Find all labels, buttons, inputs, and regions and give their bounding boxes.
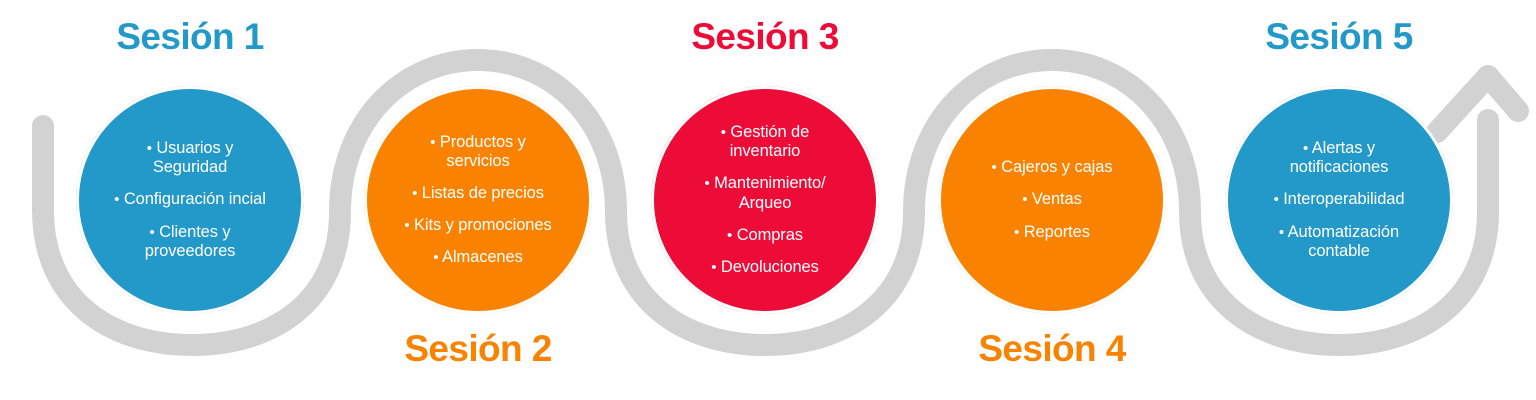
list-item: • Almacenes — [385, 248, 571, 267]
bullet-icon: • — [114, 191, 119, 208]
session-2-bullet-list: • Productos y servicios • Listas de prec… — [385, 133, 571, 268]
session-4-bullet-list: • Cajeros y cajas • Ventas • Reportes — [959, 158, 1145, 241]
session-label-2: Sesión 2 — [350, 328, 606, 370]
list-item: • Interoperabilidad — [1246, 190, 1432, 209]
list-item: • Reportes — [959, 223, 1145, 242]
bullet-icon: • — [992, 159, 997, 176]
list-item: • Kits y promociones — [385, 216, 571, 235]
list-item: • Productos y servicios — [385, 133, 571, 171]
bullet-icon: • — [721, 124, 726, 141]
list-item: • Mantenimiento/ Arqueo — [672, 174, 858, 212]
bullet-icon: • — [1303, 140, 1308, 157]
session-label-3: Sesión 3 — [637, 16, 893, 58]
list-item-label: Mantenimiento/ Arqueo — [714, 174, 825, 211]
session-roadmap-infographic: • Usuarios y Seguridad • Configuración i… — [0, 0, 1536, 400]
list-item-label: Productos y servicios — [440, 133, 526, 170]
list-item-label: Kits y promociones — [414, 216, 552, 234]
list-item-label: Devoluciones — [721, 258, 819, 276]
bullet-icon: • — [704, 175, 709, 192]
bullet-icon: • — [1279, 224, 1284, 241]
list-item-label: Gestión de inventario — [730, 123, 810, 160]
list-item: • Usuarios y Seguridad — [97, 139, 283, 177]
session-node-2[interactable]: • Productos y servicios • Listas de prec… — [364, 86, 592, 314]
bullet-icon: • — [149, 224, 154, 241]
list-item: • Configuración incial — [97, 190, 283, 209]
list-item: • Listas de precios — [385, 184, 571, 203]
bullet-icon: • — [727, 227, 732, 244]
session-node-5-inner: • Alertas y notificaciones • Interoperab… — [1225, 86, 1453, 314]
list-item-label: Usuarios y Seguridad — [153, 139, 233, 176]
bullet-icon: • — [1014, 224, 1019, 241]
bullet-icon: • — [404, 217, 409, 234]
session-label-4: Sesión 4 — [924, 328, 1180, 370]
list-item: • Gestión de inventario — [672, 123, 858, 161]
session-1-bullet-list: • Usuarios y Seguridad • Configuración i… — [97, 139, 283, 261]
bullet-icon: • — [412, 185, 417, 202]
session-node-4[interactable]: • Cajeros y cajas • Ventas • Reportes — [938, 86, 1166, 314]
session-node-3-inner: • Gestión de inventario • Mantenimiento/… — [651, 86, 879, 314]
list-item-label: Ventas — [1032, 190, 1082, 208]
list-item: • Automatización contable — [1246, 223, 1432, 261]
bullet-icon: • — [433, 249, 438, 266]
session-5-bullet-list: • Alertas y notificaciones • Interoperab… — [1246, 139, 1432, 261]
session-node-3[interactable]: • Gestión de inventario • Mantenimiento/… — [651, 86, 879, 314]
list-item-label: Clientes y proveedores — [145, 223, 236, 260]
session-label-1: Sesión 1 — [62, 16, 318, 58]
list-item-label: Compras — [737, 226, 803, 244]
list-item: • Compras — [672, 226, 858, 245]
session-node-5[interactable]: • Alertas y notificaciones • Interoperab… — [1225, 86, 1453, 314]
bullet-icon: • — [430, 134, 435, 151]
session-node-4-inner: • Cajeros y cajas • Ventas • Reportes — [938, 86, 1166, 314]
list-item: • Cajeros y cajas — [959, 158, 1145, 177]
session-node-1-inner: • Usuarios y Seguridad • Configuración i… — [76, 86, 304, 314]
list-item-label: Listas de precios — [422, 184, 544, 202]
list-item: • Clientes y proveedores — [97, 223, 283, 261]
bullet-icon: • — [1274, 191, 1279, 208]
session-node-2-inner: • Productos y servicios • Listas de prec… — [364, 86, 592, 314]
list-item-label: Almacenes — [442, 248, 523, 266]
bullet-icon: • — [711, 259, 716, 276]
bullet-icon: • — [1022, 191, 1027, 208]
list-item-label: Configuración incial — [124, 190, 266, 208]
session-label-5: Sesión 5 — [1211, 16, 1467, 58]
list-item-label: Automatización contable — [1288, 223, 1399, 260]
list-item: • Alertas y notificaciones — [1246, 139, 1432, 177]
session-3-bullet-list: • Gestión de inventario • Mantenimiento/… — [672, 123, 858, 277]
list-item-label: Interoperabilidad — [1283, 190, 1404, 208]
list-item-label: Reportes — [1024, 223, 1090, 241]
list-item: • Ventas — [959, 190, 1145, 209]
bullet-icon: • — [147, 140, 152, 157]
list-item: • Devoluciones — [672, 258, 858, 277]
list-item-label: Cajeros y cajas — [1001, 158, 1112, 176]
session-node-1[interactable]: • Usuarios y Seguridad • Configuración i… — [76, 86, 304, 314]
